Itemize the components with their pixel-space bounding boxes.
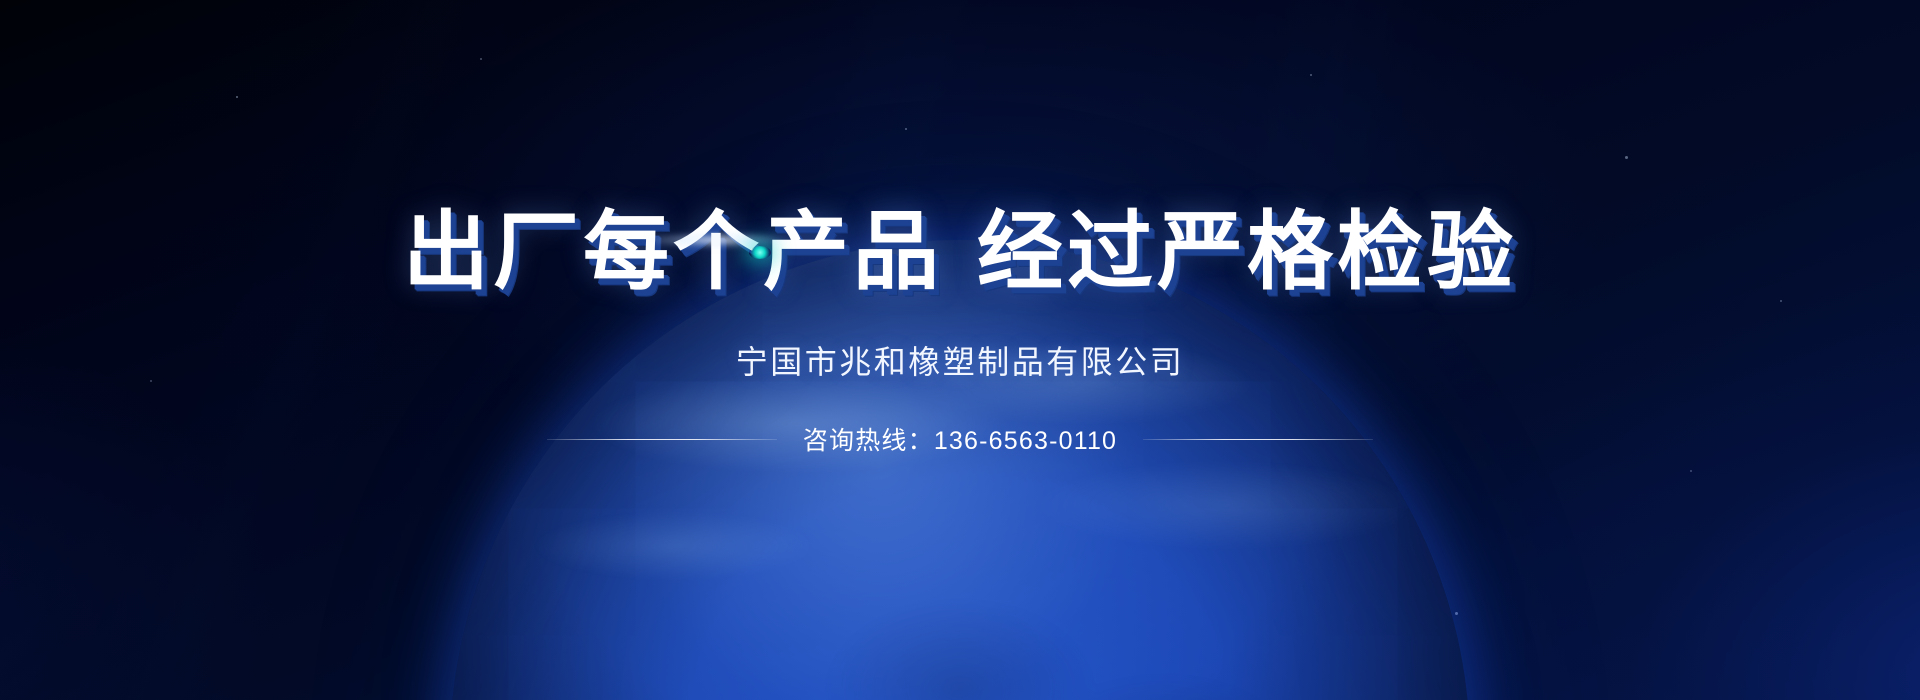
divider-rule-right [1143,439,1373,440]
hotline-text: 咨询热线：136-6563-0110 [803,421,1117,457]
promo-banner: 出厂每个产品经过严格检验 宁国市兆和橡塑制品有限公司 咨询热线：136-6563… [0,0,1920,700]
headline: 出厂每个产品经过严格检验 [403,208,1517,297]
headline-part-1: 出厂每个产品 [403,204,943,300]
banner-content: 出厂每个产品经过严格检验 宁国市兆和橡塑制品有限公司 咨询热线：136-6563… [0,0,1920,700]
divider-rule-left [547,439,777,440]
company-name: 宁国市兆和橡塑制品有限公司 [736,337,1185,383]
headline-part-2: 经过严格检验 [977,204,1517,300]
hotline-row: 咨询热线：136-6563-0110 [547,421,1373,457]
